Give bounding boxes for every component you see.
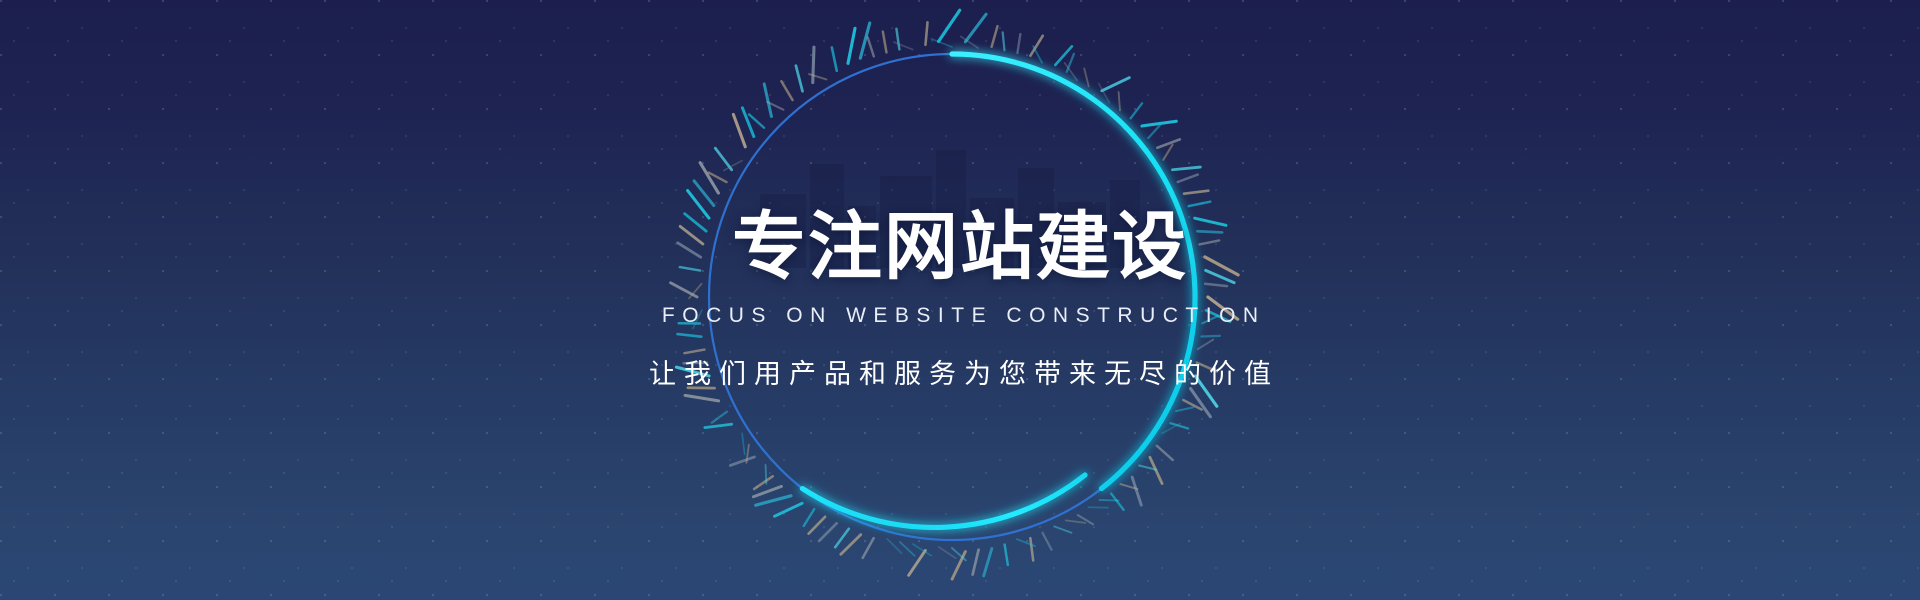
page-title: 专注网站建设	[732, 210, 1188, 284]
banner-text-block: 专注网站建设 FOCUS ON WEBSITE CONSTRUCTION 让我们…	[0, 0, 1920, 600]
subtitle-english: FOCUS ON WEBSITE CONSTRUCTION	[654, 304, 1265, 328]
hero-banner: 专注网站建设 FOCUS ON WEBSITE CONSTRUCTION 让我们…	[0, 0, 1920, 600]
tagline: 让我们用产品和服务为您带来无尽的价值	[641, 352, 1279, 391]
